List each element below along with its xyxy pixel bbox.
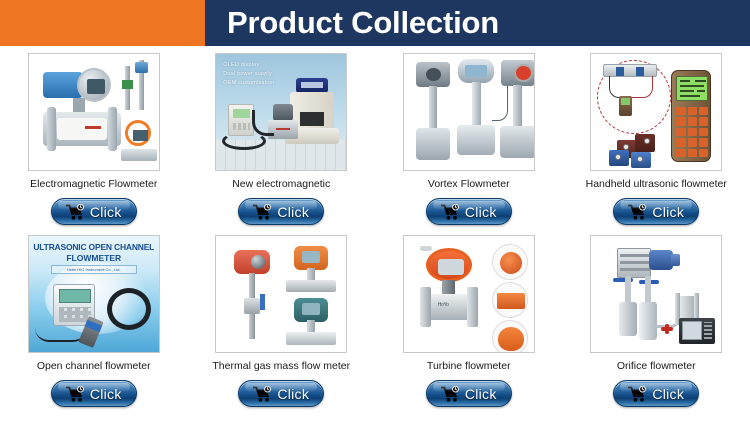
overlay-line-3: OEM customization	[223, 79, 274, 88]
probe-sensor-shape	[139, 60, 144, 110]
handheld-device-shape	[671, 70, 711, 162]
meter-display-shape	[77, 68, 111, 102]
banner-subtitle: Hefei HIO Instrument Co., Ltd.	[51, 265, 137, 274]
device-screen-shape	[676, 76, 708, 101]
cable-coil-shape	[107, 288, 151, 330]
product-row-2: ULTRASONIC OPEN CHANNEL FLOWMETER Hefei …	[0, 228, 750, 418]
shopping-cart-icon	[253, 386, 272, 402]
image-overlay-text: OLED display Dual power supply OEM custo…	[223, 61, 274, 88]
device-keypad-shape	[676, 107, 708, 157]
click-button-thermal-gas-mass-flow-meter[interactable]: Click	[238, 380, 324, 407]
product-card-turbine-flowmeter: HoYo Turbine flowmeter	[375, 228, 563, 418]
shopping-cart-icon	[441, 386, 460, 402]
probe-sensor-shape	[125, 66, 130, 110]
banner-title-line-1: ULTRASONIC OPEN CHANNEL	[29, 242, 159, 252]
click-button-turbine-flowmeter[interactable]: Click	[426, 380, 512, 407]
product-card-open-channel-flowmeter: ULTRASONIC OPEN CHANNEL FLOWMETER Hefei …	[0, 228, 188, 418]
product-card-vortex-flowmeter: Vortex Flowmeter Click	[375, 46, 563, 228]
product-grid: Electromagnetic Flowmeter Click	[0, 46, 750, 418]
click-button-label: Click	[465, 205, 497, 219]
product-caption: Thermal gas mass flow meter	[212, 360, 350, 372]
product-image-new-electromagnetic[interactable]: OLED display Dual power supply OEM custo…	[215, 53, 347, 171]
product-card-new-electromagnetic: OLED display Dual power supply OEM custo…	[188, 46, 376, 228]
product-image-open-channel-flowmeter[interactable]: ULTRASONIC OPEN CHANNEL FLOWMETER Hefei …	[28, 235, 160, 353]
product-caption: New electromagnetic	[232, 178, 330, 190]
product-image-orifice-flowmeter[interactable]	[590, 235, 722, 353]
product-image-vortex-flowmeter[interactable]	[403, 53, 535, 171]
overlay-line-1: OLED display	[223, 61, 274, 70]
shopping-cart-icon	[441, 204, 460, 220]
product-image-electromagnetic-flowmeter[interactable]	[28, 53, 160, 171]
shopping-cart-icon	[628, 386, 647, 402]
click-button-label: Click	[90, 387, 122, 401]
click-button-label: Click	[90, 205, 122, 219]
shopping-cart-icon	[253, 204, 272, 220]
page-header: Product Collection	[0, 0, 750, 46]
product-caption: Electromagnetic Flowmeter	[30, 178, 157, 190]
product-image-turbine-flowmeter[interactable]: HoYo	[403, 235, 535, 353]
product-caption: Turbine flowmeter	[427, 360, 511, 372]
display-unit-shape	[679, 318, 715, 344]
product-image-thermal-gas-mass-flow-meter[interactable]	[215, 235, 347, 353]
product-caption: Vortex Flowmeter	[428, 178, 510, 190]
product-caption: Handheld ultrasonic flowmeter	[586, 178, 727, 190]
shopping-cart-icon	[66, 386, 85, 402]
click-button-vortex-flowmeter[interactable]: Click	[426, 198, 512, 225]
product-card-orifice-flowmeter: Orifice flowmeter Click	[563, 228, 750, 418]
product-row-1: Electromagnetic Flowmeter Click	[0, 46, 750, 228]
banner-title-line-2: FLOWMETER	[29, 253, 159, 263]
click-button-handheld-ultrasonic-flowmeter[interactable]: Click	[613, 198, 699, 225]
click-button-label: Click	[277, 205, 309, 219]
product-caption: Orifice flowmeter	[617, 360, 696, 372]
click-button-orifice-flowmeter[interactable]: Click	[613, 380, 699, 407]
click-button-open-channel-flowmeter[interactable]: Click	[51, 380, 137, 407]
click-button-new-electromagnetic[interactable]: Click	[238, 198, 324, 225]
click-button-label: Click	[277, 387, 309, 401]
click-button-label: Click	[652, 205, 684, 219]
click-button-electromagnetic-flowmeter[interactable]: Click	[51, 198, 137, 225]
product-image-handheld-ultrasonic-flowmeter[interactable]	[590, 53, 722, 171]
click-button-label: Click	[465, 387, 497, 401]
header-accent-block	[0, 0, 205, 46]
product-card-thermal-gas-mass-flow-meter: Thermal gas mass flow meter Click	[188, 228, 376, 418]
product-card-electromagnetic-flowmeter: Electromagnetic Flowmeter Click	[0, 46, 188, 228]
page-title: Product Collection	[205, 0, 750, 46]
overlay-line-2: Dual power supply	[223, 70, 274, 79]
valve-handle-shape	[661, 324, 673, 334]
product-caption: Open channel flowmeter	[37, 360, 151, 372]
product-card-handheld-ultrasonic-flowmeter: Handheld ultrasonic flowmeter Click	[563, 46, 750, 228]
click-button-label: Click	[652, 387, 684, 401]
product-collection-page: Product Collection	[0, 0, 750, 428]
shopping-cart-icon	[628, 204, 647, 220]
shopping-cart-icon	[66, 204, 85, 220]
